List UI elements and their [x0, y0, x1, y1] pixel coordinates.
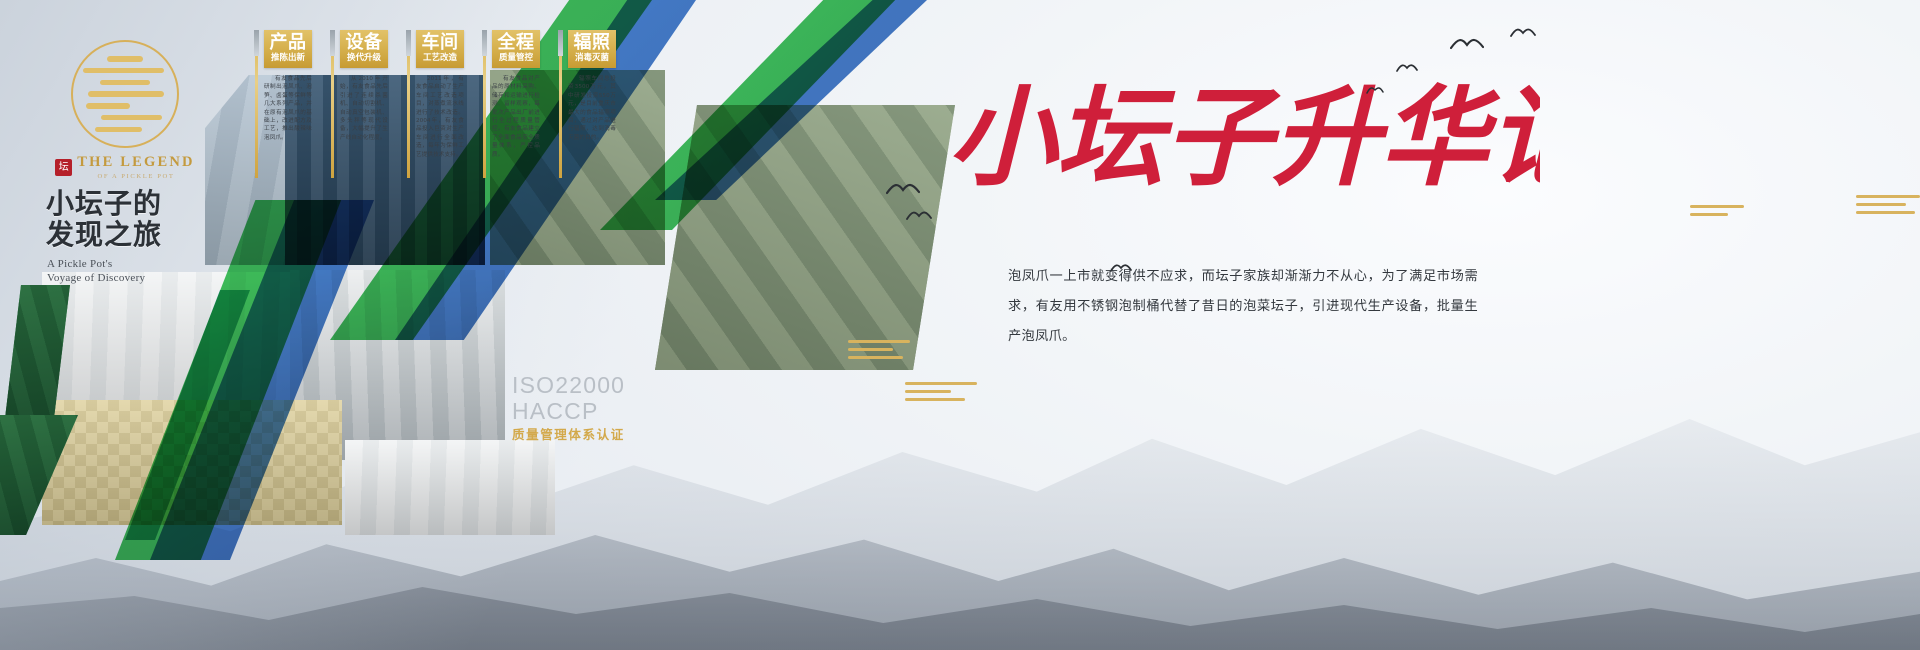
bird-icon — [1510, 26, 1536, 40]
bird-icon — [1450, 36, 1484, 54]
seal-bar — [107, 56, 142, 62]
seal-bar — [83, 68, 164, 74]
seal-bar — [88, 91, 164, 97]
card-title: 辐照 — [570, 33, 614, 52]
seal-bar — [95, 127, 142, 133]
seal-bar — [101, 115, 161, 121]
headline-calligraphy: 小坛子升华记 — [940, 70, 1540, 210]
card-body: 有友食品先后研制出泡凤爪、泡笋、卤蛋等保鲜等几大系列产品，并在原有泡凤爪的基础上… — [264, 75, 312, 142]
certification-iso-line: ISO22000 — [512, 372, 625, 398]
card-body: 有友食品对产品的原材料采购、储存和运输进行检测、留样观察，每批次产品出厂前进行全… — [492, 75, 540, 159]
certification-haccp-line: HACCP — [512, 398, 625, 424]
legend-subtitle: OF A PICKLE POT — [77, 173, 194, 180]
info-card[interactable]: 辐照 消毒灭菌 辐照车间总投资3500万元，其中研发投资550万元，是目前重庆市… — [559, 30, 616, 159]
red-stamp-icon: 坛 — [55, 159, 72, 176]
card-rule — [483, 30, 486, 178]
legend-row: 坛 THE LEGEND OF A PICKLE POT — [30, 154, 220, 180]
info-card[interactable]: 产品 推陈出新 有友食品先后研制出泡凤爪、泡笋、卤蛋等保鲜等几大系列产品，并在原… — [255, 30, 312, 159]
brand-cn-title-line1: 小坛子的 — [46, 188, 220, 219]
card-rule — [559, 30, 562, 178]
card-badge: 设备 换代升级 — [340, 30, 388, 68]
bird-icon — [1396, 62, 1418, 74]
card-title: 产品 — [266, 33, 310, 52]
card-subtitle: 工艺改造 — [418, 53, 462, 64]
card-subtitle: 质量管控 — [494, 53, 538, 64]
card-badge: 辐照 消毒灭菌 — [568, 30, 616, 68]
card-subtitle: 换代升级 — [342, 53, 386, 64]
card-rule — [255, 30, 258, 178]
description-paragraph: 泡凤爪一上市就变得供不应求，而坛子家族却渐渐力不从心，为了满足市场需求，有友用不… — [1008, 262, 1478, 352]
brand-en-subtitle: A Pickle Pot's Voyage of Discovery — [30, 257, 220, 285]
banner-canvas: 坛 THE LEGEND OF A PICKLE POT 小坛子的 发现之旅 A… — [0, 0, 1920, 650]
bird-icon — [886, 180, 920, 198]
card-title: 设备 — [342, 33, 386, 52]
brand-en-subtitle-line2: Voyage of Discovery — [47, 271, 220, 285]
gold-swirl-top-right — [1856, 195, 1920, 219]
legend-en-text: THE LEGEND OF A PICKLE POT — [77, 154, 194, 180]
card-subtitle: 消毒灭菌 — [570, 53, 614, 64]
bird-icon — [1110, 262, 1132, 274]
card-badge: 全程 质量管控 — [492, 30, 540, 68]
card-badge: 产品 推陈出新 — [264, 30, 312, 68]
brand-cn-title-line2: 发现之旅 — [46, 219, 220, 250]
brand-cn-title: 小坛子的 发现之旅 — [30, 188, 220, 250]
brand-logo-block: 坛 THE LEGEND OF A PICKLE POT 小坛子的 发现之旅 A… — [30, 40, 220, 285]
card-subtitle: 推陈出新 — [266, 53, 310, 64]
card-badge: 车间 工艺改造 — [416, 30, 464, 68]
certification-block: ISO22000 HACCP 质量管理体系认证 — [512, 372, 625, 444]
info-card[interactable]: 车间 工艺改造 2011年，有友食品启动了生产车间工艺改造项目，对蒸煮流水线进行… — [407, 30, 464, 159]
info-card-list: 产品 推陈出新 有友食品先后研制出泡凤爪、泡笋、卤蛋等保鲜等几大系列产品，并在原… — [255, 30, 616, 159]
seal-bar — [100, 80, 150, 86]
gold-swirl-mid — [848, 340, 910, 364]
seal-bars — [83, 56, 167, 132]
brand-en-subtitle-line1: A Pickle Pot's — [47, 257, 220, 271]
card-title: 全程 — [494, 33, 538, 52]
card-body: 从2010年开始，有友食品先后引进了连续杀菌机、自动切割机、自动真空包装机、多头… — [340, 75, 388, 142]
card-rule — [407, 30, 410, 178]
info-card[interactable]: 设备 换代升级 从2010年开始，有友食品先后引进了连续杀菌机、自动切割机、自动… — [331, 30, 388, 159]
bird-icon — [1366, 85, 1384, 95]
headline-text: 小坛子升华记 — [948, 80, 1540, 199]
photo-packaging-line — [345, 440, 555, 535]
certification-cn-line: 质量管理体系认证 — [512, 426, 625, 444]
card-title: 车间 — [418, 33, 462, 52]
bird-icon — [906, 208, 932, 222]
seal-bar — [86, 103, 130, 109]
card-body: 2011年，有友食品启动了生产车间工艺改造项目，对蒸煮流水线进行了技术改造。20… — [416, 75, 464, 159]
gold-swirl-lower — [905, 382, 977, 406]
card-body: 辐照车间总投资3500万元，其中研发投资550万元，是目前重庆市最大的食品辐照项… — [568, 75, 616, 142]
card-rule — [331, 30, 334, 178]
legend-title: THE LEGEND — [77, 154, 194, 171]
info-card[interactable]: 全程 质量管控 有友食品对产品的原材料采购、储存和运输进行检测、留样观察，每批次… — [483, 30, 540, 159]
gold-swirl-right-upper — [1690, 205, 1744, 221]
pickle-pot-seal-icon — [71, 40, 179, 148]
